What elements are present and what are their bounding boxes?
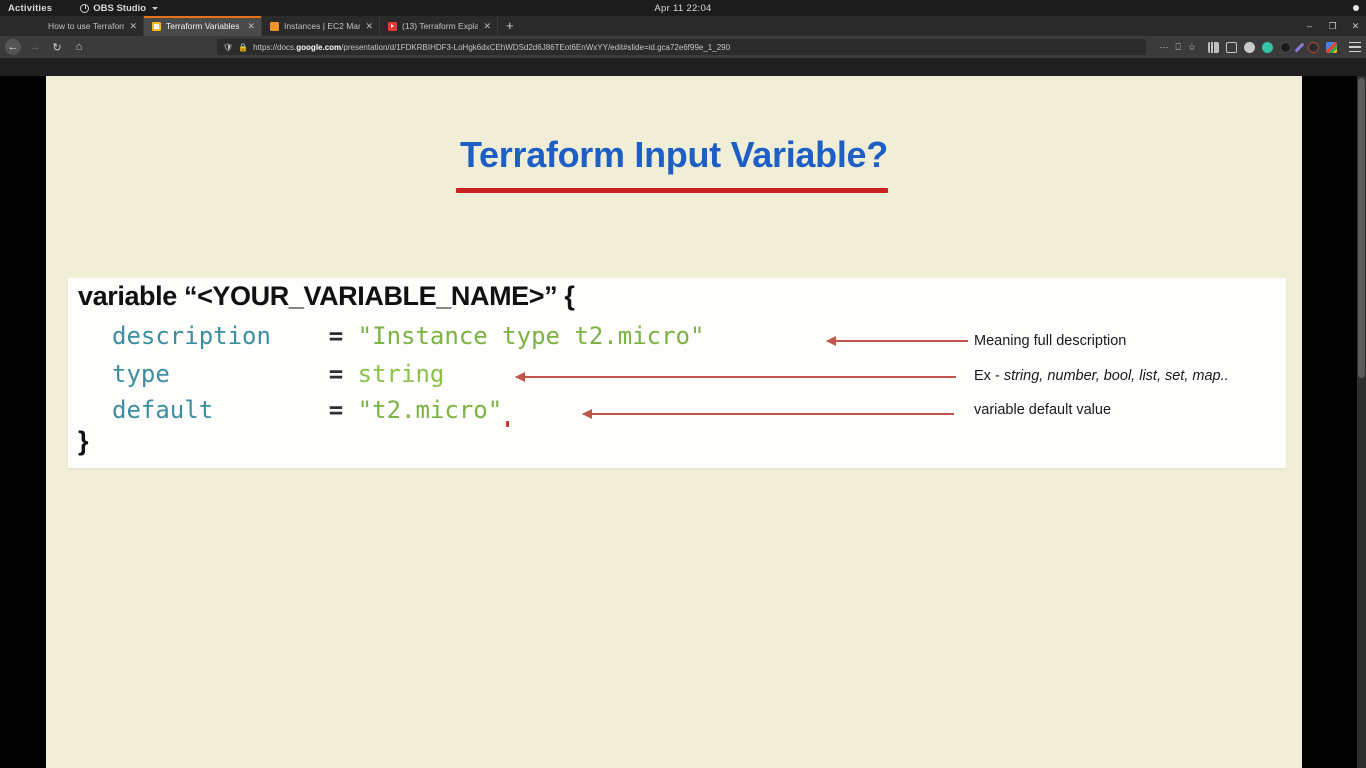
title-underline [456,188,888,193]
system-clock[interactable]: Apr 11 22:04 [0,3,1366,14]
lock-icon: 🔒 [238,43,248,52]
home-icon[interactable]: ⌂ [71,39,87,55]
code-operator: = [329,360,343,388]
firefox-window: How to use Terraform Input ✕ Terraform V… [0,16,1366,768]
browser-tab-1-active[interactable]: Terraform Variables - Go ✕ [144,16,262,36]
code-value-type: string [358,360,445,388]
back-icon[interactable]: ← [5,39,21,55]
code-line-description: description = "Instance type t2.micro" [112,322,704,350]
grammarly-icon[interactable] [1262,42,1273,53]
browser-tab-3[interactable]: (13) Terraform Explained ✕ [380,16,498,36]
page-actions-overflow-icon[interactable]: ⋯ [1160,42,1169,53]
tab-title: (13) Terraform Explained [402,21,478,31]
maximize-button[interactable]: ❐ [1326,20,1339,33]
address-bar-actions: ⋯ ⎕ ☆ [1152,42,1196,53]
bookmark-star-icon[interactable]: ☆ [1188,42,1196,53]
annotation-arrow-type [516,376,956,378]
sidebar-icon[interactable] [1226,42,1237,53]
window-controls: – ❐ ✕ [1303,17,1362,35]
faint-artifact [1008,438,1016,461]
code-operator: = [329,396,343,424]
reader-view-icon[interactable]: ⎕ [1176,42,1181,53]
minimize-button[interactable]: – [1303,20,1316,33]
annotation-text-description: Meaning full description [974,333,1126,349]
screen-root: Activities OBS Studio Apr 11 22:04 How t… [0,0,1366,768]
recorder-icon[interactable] [1308,42,1319,53]
new-tab-button[interactable]: + [498,16,522,36]
annotation-italic: string, number, bool, list, set, map.. [1004,368,1229,384]
tab-title: Instances | EC2 Manager [284,21,360,31]
tab-favicon-youtube-icon [388,22,397,31]
forward-icon[interactable]: → [27,39,43,55]
extension-toolbar [1202,42,1343,53]
code-line-default: default = "t2.micro" [112,396,502,424]
google-apps-icon[interactable] [1326,42,1337,53]
annotation-arrow-description [827,340,968,342]
code-key-type: type [112,360,170,388]
tab-title: How to use Terraform Input [48,21,124,31]
colorpick-icon[interactable] [1295,42,1305,52]
url-text: https://docs.google.com/presentation/d/1… [253,43,730,52]
code-operator: = [329,322,343,350]
tab-favicon-generic-icon [34,22,43,31]
hamburger-menu-icon[interactable] [1349,42,1361,52]
address-bar[interactable]: 🛡 🔒 https://docs.google.com/presentation… [217,39,1146,55]
account-icon[interactable] [1244,42,1255,53]
annotation-text-default: variable default value [974,402,1111,418]
code-value-description: "Instance type t2.micro" [358,322,705,350]
scrollbar-thumb[interactable] [1358,78,1365,378]
tab-title: Terraform Variables - Go [166,21,242,31]
dark-reader-icon[interactable] [1280,42,1291,53]
code-line-closing-brace: } [78,426,89,457]
tab-close-icon[interactable]: ✕ [129,22,137,31]
tracking-shield-icon[interactable]: 🛡 [223,43,233,52]
tab-favicon-aws-icon [270,22,279,31]
tab-close-icon[interactable]: ✕ [483,22,491,31]
browser-tab-0[interactable]: How to use Terraform Input ✕ [26,16,144,36]
annotation-text-type: Ex - string, number, bool, list, set, ma… [974,368,1229,384]
close-window-button[interactable]: ✕ [1349,20,1362,33]
code-line-type: type = string [112,360,444,388]
navigation-toolbar: ← → ↻ ⌂ 🛡 🔒 https://docs.google.com/pres… [0,36,1366,58]
reload-icon[interactable]: ↻ [49,39,65,55]
page-scrollbar[interactable] [1357,76,1366,768]
code-block: variable “<YOUR_VARIABLE_NAME>” { descri… [68,278,1286,468]
page-viewport: Terraform Input Variable? variable “<YOU… [0,76,1366,768]
code-value-default: "t2.micro" [358,396,503,424]
code-key-description: description [112,322,271,350]
browser-tab-2[interactable]: Instances | EC2 Manager ✕ [262,16,380,36]
tab-close-icon[interactable]: ✕ [247,22,255,31]
presentation-slide[interactable]: Terraform Input Variable? variable “<YOU… [46,76,1302,768]
system-tray[interactable] [1353,5,1359,11]
record-dot-icon [1353,5,1359,11]
text-caret [506,421,509,427]
tab-strip: How to use Terraform Input ✕ Terraform V… [0,16,1366,36]
tab-close-icon[interactable]: ✕ [365,22,373,31]
tab-favicon-google-slides-icon [152,22,161,31]
library-icon[interactable] [1208,42,1219,53]
annotation-arrow-default [583,413,954,415]
url-path: /presentation/d/1FDKRBIHDF3-LoHgk6dxCEhW… [341,43,730,52]
code-key-default: default [112,396,213,424]
code-line-declaration: variable “<YOUR_VARIABLE_NAME>” { [78,281,574,312]
annotation-prefix: Ex - [974,368,1004,384]
gnome-top-bar: Activities OBS Studio Apr 11 22:04 [0,0,1366,16]
url-domain: google.com [296,43,341,52]
page-title: Terraform Input Variable? [46,134,1302,176]
